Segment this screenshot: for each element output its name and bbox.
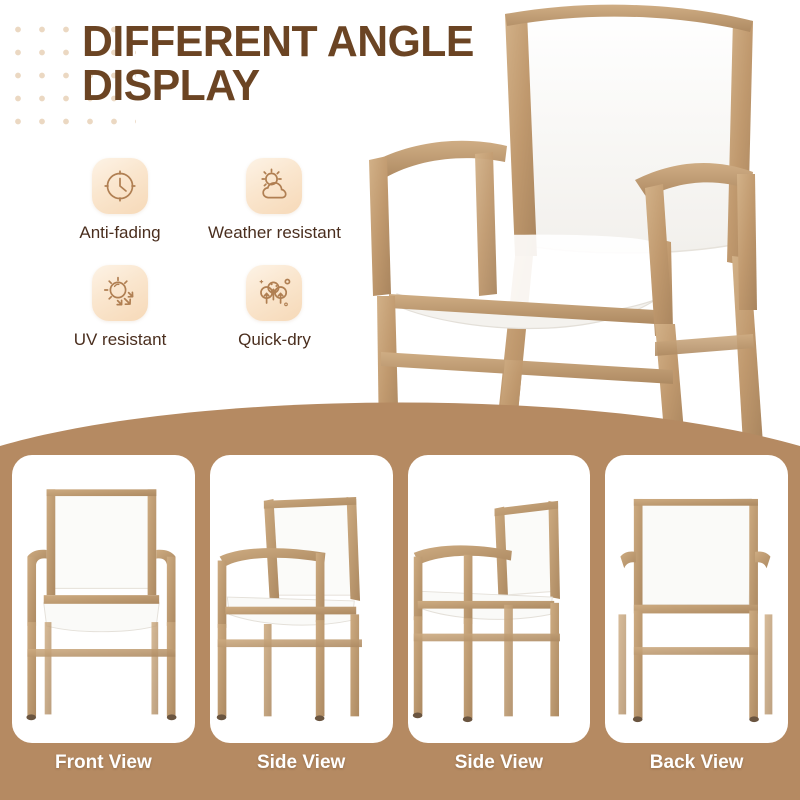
feature-label: Anti-fading: [79, 223, 160, 243]
feature-uv-resistant: UV resistant: [50, 265, 190, 350]
page-title: DIFFERENT ANGLE DISPLAY: [82, 20, 474, 108]
view-card-back[interactable]: [605, 455, 788, 743]
view-card-side-right[interactable]: [408, 455, 591, 743]
feature-label: Quick-dry: [238, 330, 311, 350]
sun-rays-icon: [92, 265, 148, 321]
view-label-back: Back View: [605, 752, 788, 774]
feature-label: UV resistant: [74, 330, 167, 350]
view-label-front: Front View: [12, 752, 195, 774]
clock-icon: [92, 158, 148, 214]
feature-weather-resistant: Weather resistant: [208, 158, 341, 243]
feature-label: Weather resistant: [208, 223, 341, 243]
product-angle-display-page: DIFFERENT ANGLE DISPLAY Anti-fading: [0, 0, 800, 800]
view-card-side-left[interactable]: [210, 455, 393, 743]
cotton-dry-icon: [246, 265, 302, 321]
view-card-front[interactable]: [12, 455, 195, 743]
view-thumbnail-row: [0, 455, 800, 743]
feature-quick-dry: Quick-dry: [208, 265, 341, 350]
feature-list: Anti-fading Weather resistant: [50, 158, 341, 350]
view-label-row: Front View Side View Side View Back View: [0, 752, 800, 774]
sun-cloud-icon: [246, 158, 302, 214]
view-label-side-left: Side View: [210, 752, 393, 774]
view-label-side-right: Side View: [408, 752, 591, 774]
feature-anti-fading: Anti-fading: [50, 158, 190, 243]
